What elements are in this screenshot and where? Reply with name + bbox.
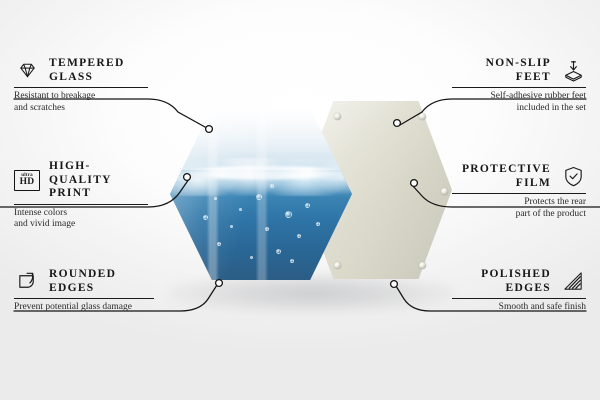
feature-tempered-glass: TEMPERED GLASS Resistant to breakage and… [14, 57, 148, 114]
infographic-stage: TEMPERED GLASS Resistant to breakage and… [0, 0, 600, 400]
feature-polished-edges: POLISHED EDGES Smooth and safe finish [452, 268, 586, 314]
feature-title: TEMPERED GLASS [49, 57, 125, 84]
feature-high-quality-print: ultra HD HIGH-QUALITY PRINT Intense colo… [14, 160, 148, 231]
feature-rounded-edges: ROUNDED EDGES Prevent potential glass da… [14, 268, 154, 314]
feature-title: HIGH-QUALITY PRINT [49, 160, 148, 201]
feature-divider [14, 298, 154, 299]
shield-check-icon [560, 164, 586, 190]
ultra-hd-badge-icon: ultra HD [14, 167, 40, 193]
feature-divider [14, 204, 148, 205]
feature-header: ultra HD HIGH-QUALITY PRINT [14, 160, 148, 201]
feature-title: ROUNDED EDGES [49, 268, 116, 295]
feature-title: POLISHED EDGES [481, 268, 551, 295]
feature-divider [452, 298, 586, 299]
feature-description: Smooth and safe finish [452, 302, 586, 314]
feature-non-slip-feet: NON-SLIP FEET Self-adhesive rubber feet … [452, 57, 586, 114]
rubber-foot [419, 262, 426, 269]
feature-header: POLISHED EDGES [452, 268, 586, 295]
feature-header: PROTECTIVE FILM [452, 163, 586, 190]
feature-title: NON-SLIP FEET [486, 57, 551, 84]
rubber-foot [441, 188, 448, 195]
feature-description: Protects the rear part of the product [452, 197, 586, 220]
feature-description: Intense colors and vivid image [14, 208, 148, 231]
feature-header: NON-SLIP FEET [452, 57, 586, 84]
press-down-pad-icon [560, 58, 586, 84]
rubber-foot [334, 262, 341, 269]
feature-header: TEMPERED GLASS [14, 57, 148, 84]
feature-title: PROTECTIVE FILM [462, 163, 551, 190]
feature-description: Self-adhesive rubber feet included in th… [452, 91, 586, 114]
feature-divider [452, 193, 586, 194]
feature-divider [14, 87, 148, 88]
rounded-corner-icon [14, 269, 40, 295]
diagonal-hatch-icon [560, 269, 586, 295]
feature-header: ROUNDED EDGES [14, 268, 154, 295]
feature-description: Resistant to breakage and scratches [14, 91, 148, 114]
rubber-foot [334, 113, 341, 120]
ultra-hd-line2: HD [20, 178, 35, 188]
rubber-foot [419, 113, 426, 120]
feature-divider [452, 87, 586, 88]
diamond-icon [14, 58, 40, 84]
feature-description: Prevent potential glass damage [14, 302, 154, 314]
feature-protective-film: PROTECTIVE FILM Protects the rear part o… [452, 163, 586, 220]
